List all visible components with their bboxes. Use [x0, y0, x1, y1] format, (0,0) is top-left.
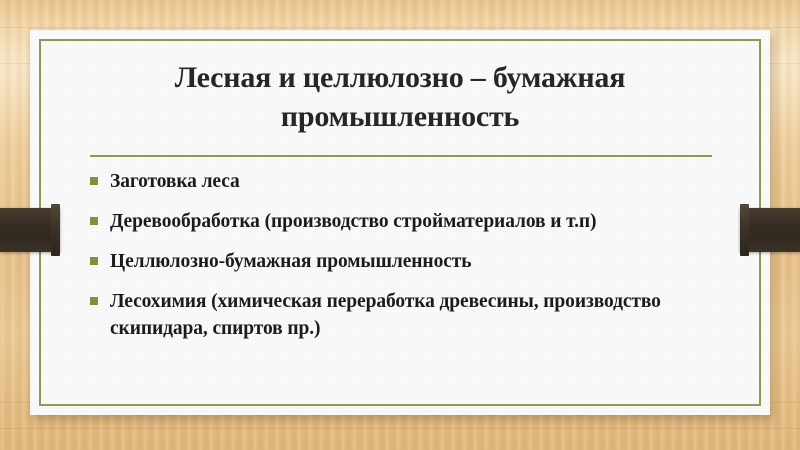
slide-title: Лесная и целлюлозно – бумажная промышлен…	[88, 58, 712, 136]
square-bullet-icon	[90, 177, 98, 185]
wood-grain-seam	[0, 27, 800, 28]
square-bullet-icon	[90, 257, 98, 265]
slide-title-line-1: Лесная и целлюлозно – бумажная	[88, 58, 712, 97]
title-divider	[90, 155, 712, 157]
slide: Лесная и целлюлозно – бумажная промышлен…	[0, 0, 800, 450]
slide-title-line-2: промышленность	[88, 97, 712, 136]
list-item-label: Деревообработка (производство стройматер…	[110, 211, 596, 232]
list-item: Лесохимия (химическая переработка древес…	[88, 289, 728, 341]
slide-content: Лесная и целлюлозно – бумажная промышлен…	[30, 30, 770, 415]
list-item-label: Целлюлозно-бумажная промышленность	[110, 251, 471, 272]
square-bullet-icon	[90, 297, 98, 305]
wood-grain-seam	[0, 428, 800, 429]
list-item-label: Лесохимия (химическая переработка древес…	[110, 291, 661, 338]
list-item: Заготовка леса	[88, 169, 728, 195]
list-item-label: Заготовка леса	[110, 171, 240, 192]
square-bullet-icon	[90, 217, 98, 225]
bullet-list: Заготовка леса Деревообработка (производ…	[88, 169, 728, 342]
list-item: Деревообработка (производство стройматер…	[88, 209, 728, 235]
list-item: Целлюлозно-бумажная промышленность	[88, 249, 728, 275]
